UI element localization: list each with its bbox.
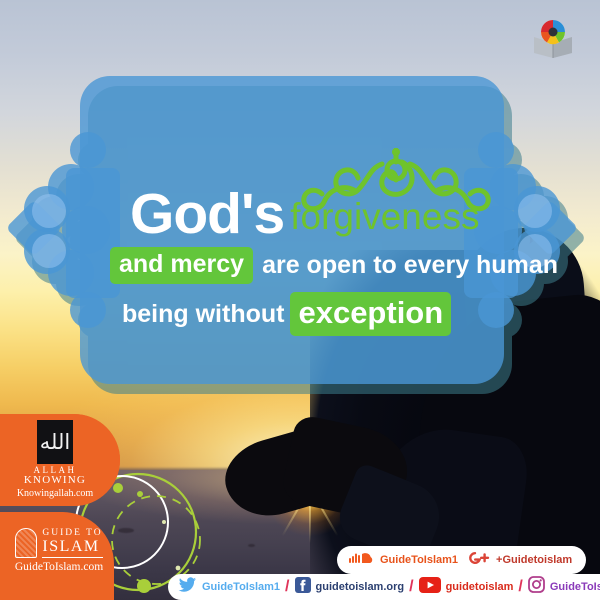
quote-word-gods: God's: [130, 182, 284, 246]
separator-1: /: [284, 578, 290, 596]
social-link-soundcloud[interactable]: GuideToIslam1: [349, 551, 458, 570]
allah-calligraphy-mark: الله: [37, 420, 73, 464]
guidetoislam-logo[interactable]: GUIDE TO ISLAM GuideToIslam.com: [4, 528, 114, 575]
social-link-googleplus[interactable]: +Guidetoislam: [467, 550, 572, 571]
instagram-label: GuideToIslam11: [550, 582, 600, 593]
social-bar-bottom: GuideToIslam1 / guidetoislam.org / guide…: [168, 574, 600, 600]
knowingallah-title-main: KNOWING: [12, 475, 98, 487]
social-link-youtube[interactable]: guidetoislam: [419, 577, 514, 598]
guidetoislam-website[interactable]: GuideToIslam.com: [4, 561, 114, 575]
twitter-icon: [178, 577, 197, 598]
googleplus-label: +Guidetoislam: [496, 555, 572, 566]
quote-line-3-text: being without: [122, 302, 284, 327]
quote-line-2-text: are open to every human: [262, 253, 558, 278]
highlight-and-mercy: and mercy: [110, 247, 253, 284]
instagram-icon: [528, 576, 545, 598]
separator-2: /: [408, 578, 414, 596]
mihrab-arch-icon: [15, 528, 37, 558]
quote-line-3: being without exception: [122, 292, 451, 336]
separator-3: /: [517, 578, 523, 596]
social-bar-top: GuideToIslam1 +Guidetoislam: [337, 546, 586, 574]
social-link-twitter[interactable]: GuideToIslam1: [178, 577, 280, 598]
social-link-instagram[interactable]: GuideToIslam11: [528, 576, 600, 598]
poster-canvas: God'sforgiveness and mercy are open to e…: [0, 0, 600, 600]
youtube-icon: [419, 577, 441, 598]
quote-word-forgiveness: forgiveness: [290, 196, 479, 237]
youtube-label: guidetoislam: [446, 582, 514, 593]
google-plus-icon: [467, 550, 491, 571]
highlight-exception: exception: [290, 292, 451, 336]
facebook-icon: [295, 577, 311, 598]
knowingallah-logo[interactable]: الله ALLAH KNOWING Knowingallah.com: [12, 420, 98, 500]
quote-line-1: God'sforgiveness: [130, 186, 479, 243]
quote-line-2: and mercy are open to every human: [110, 247, 558, 284]
facebook-label: guidetoislam.org: [316, 582, 405, 593]
soundcloud-label: GuideToIslam1: [380, 555, 458, 566]
twitter-label: GuideToIslam1: [202, 582, 280, 593]
guidetoislam-title-main: ISLAM: [42, 539, 102, 558]
knowingallah-website[interactable]: Knowingallah.com: [12, 488, 98, 500]
social-link-facebook[interactable]: guidetoislam.org: [295, 577, 405, 598]
open-book-globe-icon: [531, 17, 575, 59]
soundcloud-icon: [349, 551, 375, 570]
